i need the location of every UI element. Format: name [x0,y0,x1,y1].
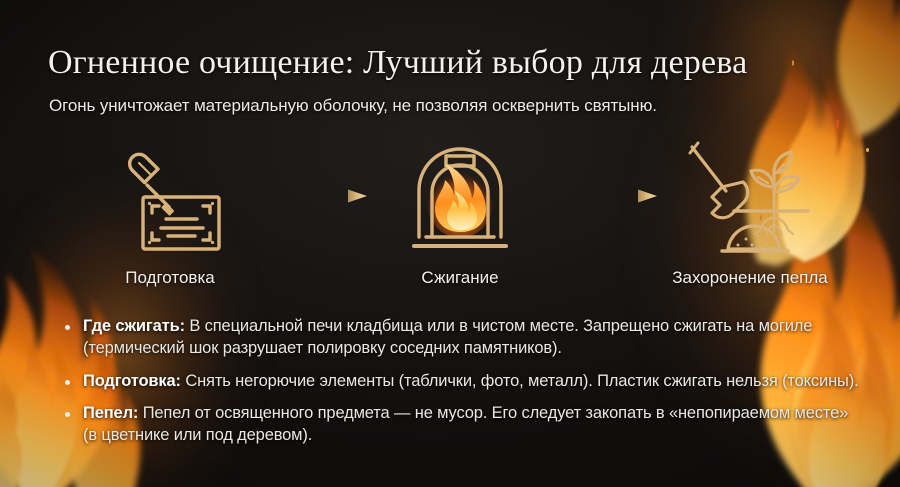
step-ash-burial: Захоронение пепла [670,136,830,288]
step-label: Подготовка [125,268,214,288]
arrow-burn-to-burial [550,188,660,209]
list-item: Пепел: Пепел от освященного предмета — н… [62,403,862,447]
furnace-flame-icon [406,136,514,258]
bullet-list: Где сжигать: В специальной печи кладбища… [62,316,862,447]
screwdriver-plaque-icon [111,136,229,258]
bullet-text: Пепел от освященного предмета — не мусор… [83,404,848,444]
step-label: Захоронение пепла [672,268,828,288]
shovel-plant-ash-icon [688,136,812,258]
step-label: Сжигание [421,268,498,288]
bullet-text: В специальной печи кладбища или в чистом… [83,317,812,357]
bullet-lead: Пепел: [83,404,138,422]
step-burning: Сжигание [380,136,540,288]
slide-root: Огненное очищение: Лучший выбор для дере… [0,0,900,487]
list-item: Подготовка: Снять негорючие элементы (та… [62,371,862,393]
bullet-lead: Где сжигать: [83,317,185,335]
page-subtitle: Огонь уничтожает материальную оболочку, … [49,96,869,116]
page-title: Огненное очищение: Лучший выбор для дере… [48,44,868,82]
bullet-text: Снять негорючие элементы (таблички, фото… [181,372,859,390]
bullet-lead: Подготовка: [83,372,181,390]
step-preparation: Подготовка [90,136,250,288]
list-item: Где сжигать: В специальной печи кладбища… [62,316,862,360]
process-steps: Подготовка [90,136,830,306]
arrow-prep-to-burn [260,188,370,209]
